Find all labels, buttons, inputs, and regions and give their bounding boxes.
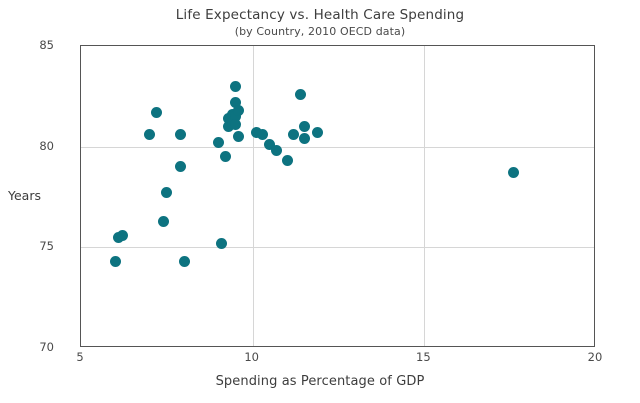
scatter-point: [110, 256, 121, 267]
data-points: [81, 46, 594, 346]
y-tick-label: 80: [14, 140, 54, 152]
scatter-point: [312, 127, 323, 138]
x-tick-label: 10: [227, 351, 277, 364]
plot-area: [80, 45, 595, 347]
y-tick-label: 85: [14, 39, 54, 51]
scatter-point: [220, 151, 231, 162]
chart-subtitle: (by Country, 2010 OECD data): [0, 24, 640, 40]
x-tick-label: 20: [570, 351, 620, 364]
scatter-point: [179, 256, 190, 267]
scatter-point: [230, 119, 241, 130]
scatter-point: [216, 238, 227, 249]
x-axis-label: Spending as Percentage of GDP: [0, 374, 640, 389]
scatter-point: [233, 105, 244, 116]
scatter-point: [158, 216, 169, 227]
x-tick-label: 5: [55, 351, 105, 364]
x-tick-label: 15: [398, 351, 448, 364]
scatter-point: [117, 230, 128, 241]
scatter-point: [282, 155, 293, 166]
scatter-point: [288, 129, 299, 140]
y-axis-label: Years: [8, 188, 72, 203]
scatter-point: [299, 121, 310, 132]
scatter-point: [230, 81, 241, 92]
scatter-point: [299, 133, 310, 144]
scatter-point: [271, 145, 282, 156]
scatter-point: [213, 137, 224, 148]
title-block: Life Expectancy vs. Health Care Spending…: [0, 6, 640, 40]
scatter-point: [151, 107, 162, 118]
scatter-point: [295, 89, 306, 100]
scatter-point: [175, 161, 186, 172]
scatter-point: [508, 167, 519, 178]
scatter-point: [175, 129, 186, 140]
y-tick-label: 75: [14, 240, 54, 252]
scatter-chart-figure: Life Expectancy vs. Health Care Spending…: [0, 0, 640, 403]
scatter-point: [233, 131, 244, 142]
y-tick-label: 70: [14, 341, 54, 353]
chart-title: Life Expectancy vs. Health Care Spending: [0, 6, 640, 24]
scatter-point: [144, 129, 155, 140]
scatter-point: [161, 187, 172, 198]
